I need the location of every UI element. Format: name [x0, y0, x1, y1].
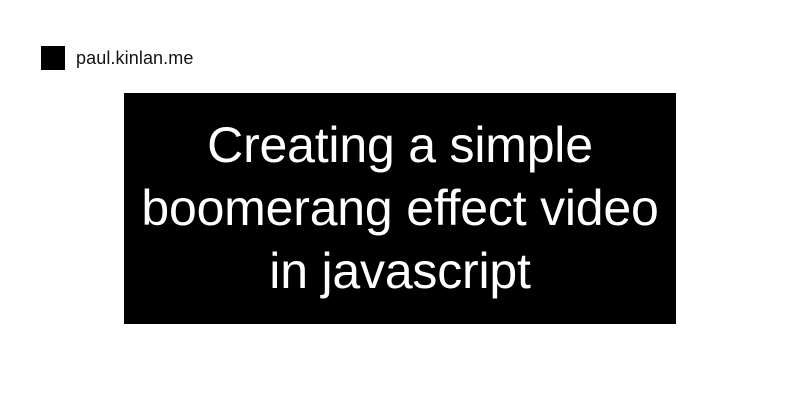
site-header: paul.kinlan.me [41, 46, 193, 70]
site-name-label[interactable]: paul.kinlan.me [76, 46, 193, 70]
page-title-line-1: Creating a simple [134, 114, 666, 177]
black-square-logo-icon[interactable] [41, 46, 65, 70]
hero-title-card: Creating a simple boomerang effect video… [124, 93, 676, 324]
page-title: Creating a simple boomerang effect video… [124, 114, 676, 303]
page-title-line-2: boomerang effect video [134, 177, 666, 240]
page-title-line-3: in javascript [134, 240, 666, 303]
